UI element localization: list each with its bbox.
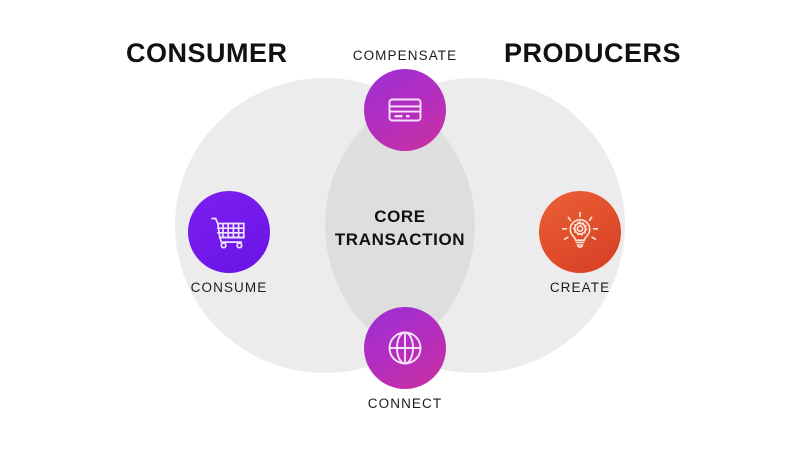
node-compensate-label: COMPENSATE [325, 48, 485, 63]
heading-consumer: CONSUMER [126, 38, 288, 69]
node-connect[interactable]: CONNECT [325, 307, 485, 411]
globe-icon [382, 325, 428, 371]
node-compensate-bubble[interactable] [364, 69, 446, 151]
heading-producers: PRODUCERS [504, 38, 681, 69]
node-create-bubble[interactable] [539, 191, 621, 273]
lightbulb-gear-icon [556, 208, 604, 256]
node-connect-bubble[interactable] [364, 307, 446, 389]
shopping-cart-icon [206, 209, 252, 255]
node-create[interactable]: CREATE [500, 191, 660, 295]
core-transaction-label: CORE TRANSACTION [320, 205, 480, 251]
node-consume[interactable]: CONSUME [149, 191, 309, 295]
core-transaction-line-2: TRANSACTION [320, 228, 480, 251]
node-create-label: CREATE [500, 280, 660, 295]
credit-card-icon [383, 88, 427, 132]
core-transaction-line-1: CORE [320, 205, 480, 228]
node-connect-label: CONNECT [325, 396, 485, 411]
node-consume-bubble[interactable] [188, 191, 270, 273]
diagram-canvas: CONSUMER PRODUCERS CORE TRANSACTION COMP… [0, 0, 800, 450]
node-compensate[interactable]: COMPENSATE [325, 48, 485, 151]
node-consume-label: CONSUME [149, 280, 309, 295]
